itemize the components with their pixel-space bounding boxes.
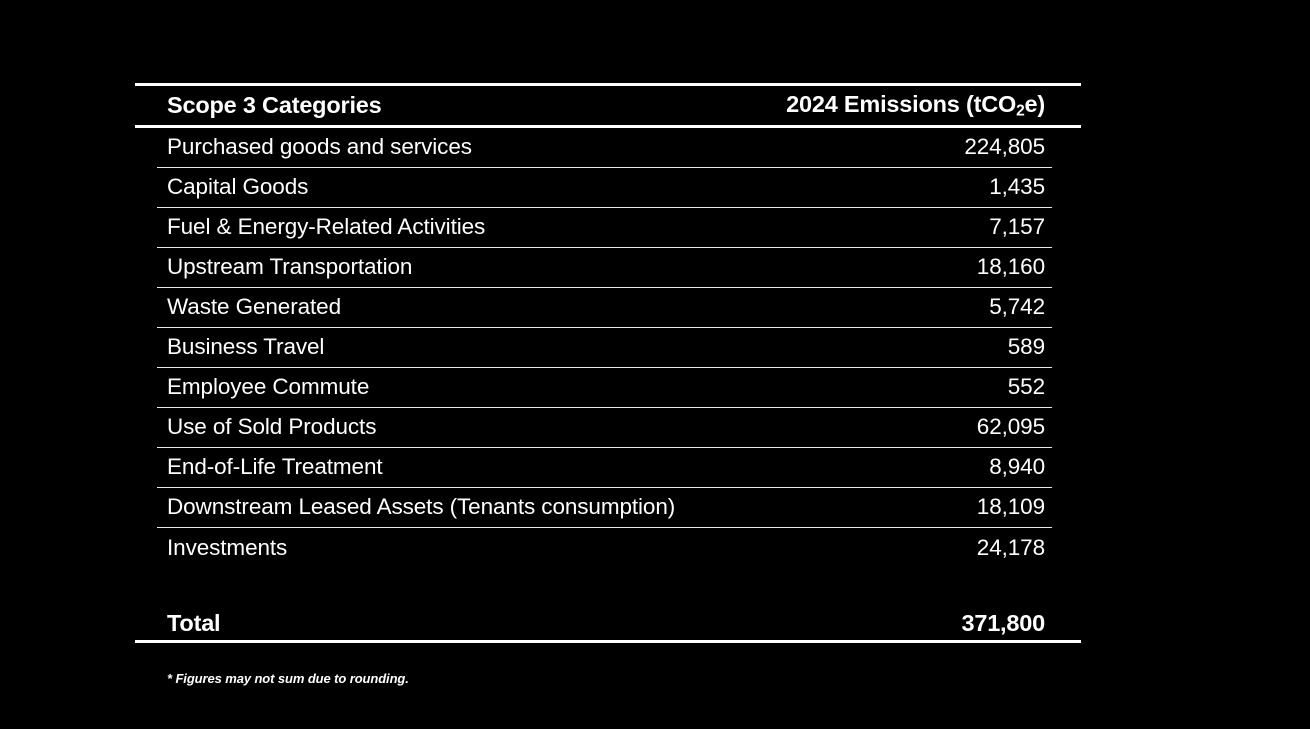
row-value: 62,095 — [977, 416, 1052, 439]
row-category: Business Travel — [157, 336, 324, 359]
row-value: 24,178 — [977, 537, 1052, 560]
table-row: Use of Sold Products 62,095 — [157, 408, 1052, 448]
column-header-category: Scope 3 Categories — [167, 94, 382, 118]
column-header-emissions-prefix: 2024 Emissions (tCO — [786, 91, 1016, 117]
row-value: 7,157 — [989, 216, 1052, 239]
table-row: End-of-Life Treatment 8,940 — [157, 448, 1052, 488]
row-category: Use of Sold Products — [157, 416, 376, 439]
row-value: 589 — [1008, 336, 1052, 359]
slide-root: Scope 3 Categories 2024 Emissions (tCO2e… — [0, 0, 1310, 729]
row-value: 8,940 — [989, 456, 1052, 479]
row-category: Investments — [157, 537, 287, 560]
total-row: Total 371,800 — [135, 608, 1081, 640]
table-row: Capital Goods 1,435 — [157, 168, 1052, 208]
row-category: Employee Commute — [157, 376, 369, 399]
row-value: 1,435 — [989, 176, 1052, 199]
table-body: Purchased goods and services 224,805 Cap… — [135, 128, 1081, 568]
row-value: 18,109 — [977, 496, 1052, 519]
table-header-row: Scope 3 Categories 2024 Emissions (tCO2e… — [135, 86, 1081, 125]
table-row: Employee Commute 552 — [157, 368, 1052, 408]
table-row: Waste Generated 5,742 — [157, 288, 1052, 328]
table-bottom-rule — [135, 640, 1081, 643]
column-header-emissions-suffix: e) — [1025, 91, 1046, 117]
row-category: Waste Generated — [157, 296, 341, 319]
total-label: Total — [167, 612, 220, 636]
total-value: 371,800 — [961, 612, 1045, 636]
row-value: 5,742 — [989, 296, 1052, 319]
row-category: End-of-Life Treatment — [157, 456, 383, 479]
table-row: Investments 24,178 — [157, 528, 1052, 568]
total-spacer — [135, 568, 1081, 608]
table-row: Fuel & Energy-Related Activities 7,157 — [157, 208, 1052, 248]
emissions-table: Scope 3 Categories 2024 Emissions (tCO2e… — [135, 83, 1081, 643]
column-header-emissions-subscript: 2 — [1016, 102, 1024, 119]
row-category: Downstream Leased Assets (Tenants consum… — [157, 496, 675, 519]
footnote: * Figures may not sum due to rounding. — [167, 671, 409, 686]
row-value: 552 — [1008, 376, 1052, 399]
row-value: 18,160 — [977, 256, 1052, 279]
row-category: Fuel & Energy-Related Activities — [157, 216, 485, 239]
table-row: Business Travel 589 — [157, 328, 1052, 368]
row-value: 224,805 — [964, 136, 1052, 159]
row-category: Purchased goods and services — [157, 136, 472, 159]
row-category: Upstream Transportation — [157, 256, 412, 279]
table-row: Purchased goods and services 224,805 — [157, 128, 1052, 168]
column-header-emissions: 2024 Emissions (tCO2e) — [786, 93, 1045, 119]
table-row: Downstream Leased Assets (Tenants consum… — [157, 488, 1052, 528]
table-row: Upstream Transportation 18,160 — [157, 248, 1052, 288]
row-category: Capital Goods — [157, 176, 308, 199]
